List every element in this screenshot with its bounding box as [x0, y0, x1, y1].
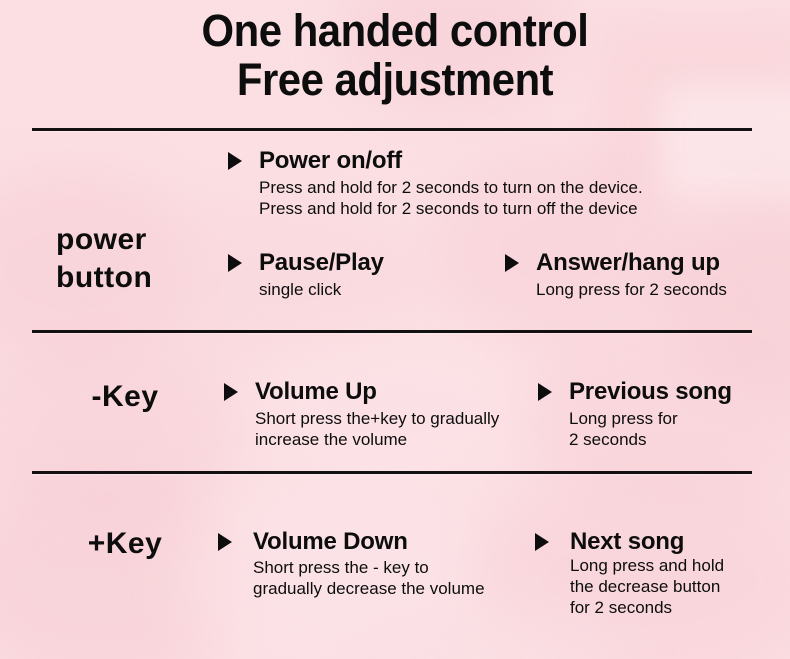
entry-title: Next song [570, 528, 684, 555]
entry-description: single click [259, 279, 384, 300]
entry-pause-play: Pause/Play single click [228, 249, 384, 300]
entry-title: Pause/Play [259, 249, 384, 276]
title-line-1: One handed control [28, 6, 763, 55]
instruction-poster: One handed control Free adjustment power… [0, 0, 790, 659]
entry-next-song: Next song Long press and hold the decrea… [535, 528, 724, 618]
entry-description: Long press for 2 seconds [536, 279, 727, 300]
title-line-2: Free adjustment [28, 55, 763, 104]
entry-title: Power on/off [259, 147, 402, 174]
entry-previous-song: Previous song Long press for 2 seconds [538, 378, 732, 450]
entry-answer-hang-up: Answer/hang up Long press for 2 seconds [505, 249, 727, 300]
background-texture-blob [0, 470, 250, 659]
entry-description: Long press for 2 seconds [569, 408, 732, 450]
entry-title: Volume Up [255, 378, 377, 405]
row-key-label-plus-key: +Key [50, 527, 200, 561]
entry-title: Previous song [569, 378, 732, 405]
right-triangle-icon [228, 152, 242, 170]
right-triangle-icon [218, 533, 232, 551]
right-triangle-icon [505, 254, 519, 272]
right-triangle-icon [224, 383, 238, 401]
entry-description: Long press and hold the decrease button … [570, 555, 724, 618]
entry-title: Answer/hang up [536, 249, 720, 276]
right-triangle-icon [538, 383, 552, 401]
entry-description: Short press the+key to gradually increas… [255, 408, 499, 450]
row-key-label-minus-key: -Key [50, 380, 200, 414]
section-divider-top [32, 128, 752, 131]
entry-description: Short press the - key to gradually decre… [253, 557, 485, 599]
right-triangle-icon [228, 254, 242, 272]
section-divider-middle [32, 330, 752, 333]
entry-power-on-off: Power on/off Press and hold for 2 second… [228, 147, 643, 219]
entry-volume-down: Volume Down Short press the - key to gra… [218, 528, 485, 599]
right-triangle-icon [535, 533, 549, 551]
entry-volume-up: Volume Up Short press the+key to gradual… [224, 378, 499, 450]
poster-title: One handed control Free adjustment [0, 6, 790, 104]
entry-description: Press and hold for 2 seconds to turn on … [259, 177, 643, 219]
background-texture-blob [0, 340, 240, 520]
section-divider-bottom [32, 471, 752, 474]
row-key-label-power-button: power button [56, 221, 152, 297]
entry-title: Volume Down [253, 528, 408, 555]
